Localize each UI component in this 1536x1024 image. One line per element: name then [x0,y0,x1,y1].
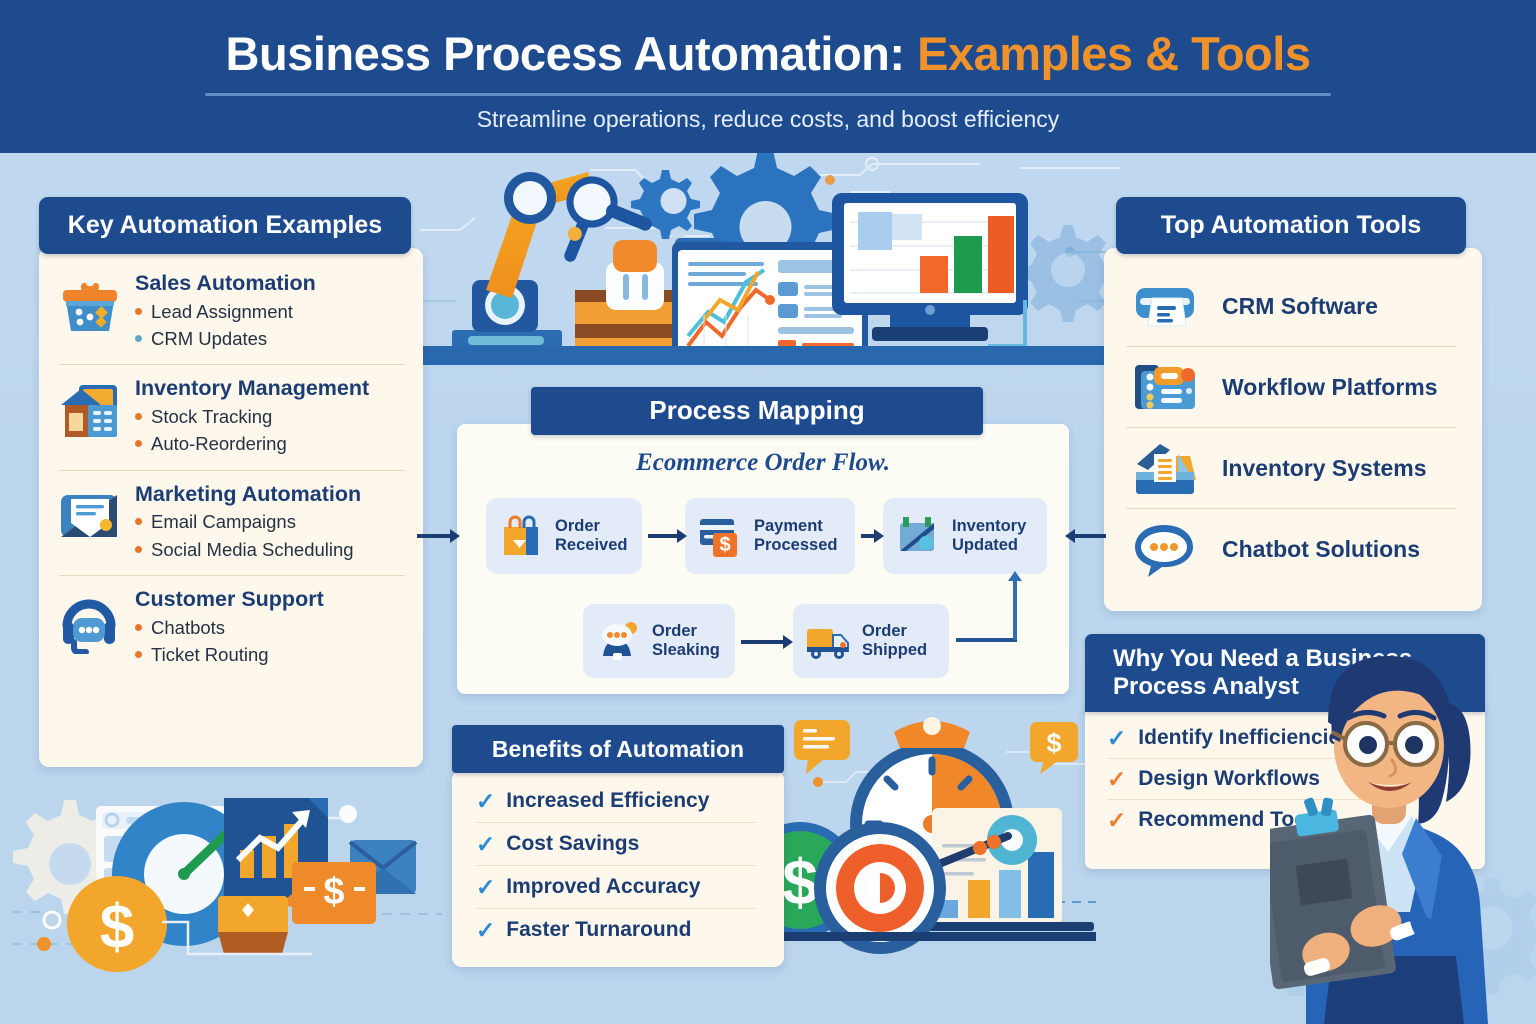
bullet-label: Stock Tracking [151,403,272,430]
check-icon: ✓ [476,919,495,942]
svg-text:$: $ [782,846,818,918]
envelope-icon [350,840,416,894]
page-title-main: Business Process Automation: [226,27,905,80]
bullet-label: CRM Updates [151,325,267,352]
list-item[interactable]: Marketing Automation Email Campaigns Soc… [55,483,407,563]
flow-step-order-shipped[interactable]: Order Shipped [793,604,949,678]
chat-bubble-icon [1130,517,1200,581]
bullet-dot [135,624,142,631]
svg-text:$: $ [100,893,134,962]
svg-text:$: $ [1046,728,1061,758]
benefit-label: Improved Accuracy [495,875,700,899]
flow-step-label: Order Sleaking [643,622,720,661]
bullet-dot [135,518,142,525]
flow-arrow-up [1013,580,1017,640]
chat-bubble-icon [794,720,850,774]
process-mapping-header: Process Mapping [531,387,983,435]
page-title: Business Process Automation: Examples & … [0,26,1536,81]
package-box-icon [575,240,695,350]
list-item[interactable]: Inventory Systems [1118,428,1468,508]
benefit-label: Cost Savings [495,832,639,856]
flow-arrow [741,640,784,644]
laptop-barchart-icon [880,808,1094,931]
list-item-text: Customer Support Chatbots Ticket Routing [123,588,407,668]
group-title: Inventory Management [135,377,407,400]
flow-step-order-received[interactable]: Order Received [486,498,642,574]
divider [59,575,405,576]
robot-chat-icon [593,616,643,666]
list-item[interactable]: CRM Software [1118,266,1468,346]
benefits-panel-title: Benefits of Automation [492,736,744,762]
flow-step-label: Order Shipped [853,622,927,661]
floor-line [744,932,1096,941]
group-title: Marketing Automation [135,483,407,506]
flow-return-path [956,638,1017,642]
workflow-board-icon [1130,355,1200,419]
header-divider [205,93,1331,96]
flow-step-label: Payment Processed [745,517,837,556]
envelope-icon [57,485,123,549]
analyst-label: Recommend Tools [1126,808,1324,832]
inventory-chart-icon [893,511,943,561]
check-icon: ✓ [476,833,495,856]
bottom-left-illustration: $ $ [12,772,452,1024]
tool-label: Chatbot Solutions [1200,536,1420,563]
analyst-panel-title: Why You Need a Business Process Analyst [1113,645,1412,700]
flow-step-order-tracking[interactable]: Order Sleaking [583,604,735,678]
bullet-dot [135,651,142,658]
flow-step-inventory-updated[interactable]: Inventory Updated [883,498,1047,574]
list-item-text: Inventory Management Stock Tracking Auto… [123,377,407,457]
check-icon: ✓ [1107,727,1126,750]
money-envelope-icon [218,896,288,954]
bullet-dot [135,335,142,342]
bullet-item: CRM Updates [135,325,407,352]
list-item[interactable]: Chatbot Solutions [1118,509,1468,589]
tools-panel-title: Top Automation Tools [1161,211,1422,240]
sales-basket-icon [57,274,123,338]
group-title: Sales Automation [135,272,407,295]
headset-bot-icon [57,590,123,654]
gear-icon [1434,878,1536,994]
benefit-label: Faster Turnaround [495,918,691,942]
infographic-canvas: Business Process Automation: Examples & … [0,0,1536,1024]
flow-step-label: Inventory Updated [943,517,1026,556]
list-item-text: Marketing Automation Email Campaigns Soc… [123,483,407,563]
tool-label: Inventory Systems [1200,455,1427,482]
bullet-item: Auto-Reordering [135,430,407,457]
robot-arm-icon [452,172,660,350]
svg-text:$: $ [719,534,730,556]
top-banner-illustration [420,150,1120,365]
analyst-panel-header: Why You Need a Business Process Analyst [1085,634,1485,712]
bullet-dot [135,308,142,315]
divider [59,470,405,471]
analyst-label: Identify Inefficiencies [1126,726,1352,750]
bullet-label: Ticket Routing [151,641,269,668]
tools-panel-header: Top Automation Tools [1116,197,1466,254]
bullet-label: Auto-Reordering [151,430,287,457]
list-item[interactable]: ✓ Recommend Tools [1085,800,1485,840]
tool-label: Workflow Platforms [1200,374,1438,401]
analyst-label: Design Workflows [1126,767,1320,791]
business-process-analyst-panel: ✓ Identify Inefficiencies ✓ Design Workf… [1085,706,1485,869]
coin-dollar-icon: $ [67,876,167,972]
flow-step-label: Order Received [546,517,627,556]
list-item[interactable]: ✓ Identify Inefficiencies [1085,718,1485,758]
left-panel-title: Key Automation Examples [68,211,382,240]
bullet-item: Lead Assignment [135,298,407,325]
list-item[interactable]: Sales Automation Lead Assignment CRM Upd… [55,272,407,352]
bullet-label: Email Campaigns [151,508,296,535]
list-item[interactable]: ✓ Improved Accuracy [452,866,784,908]
bullet-label: Social Media Scheduling [151,536,354,563]
benefits-panel-header: Benefits of Automation [452,725,784,773]
list-item[interactable]: ✓ Design Workflows [1085,759,1485,799]
monitor-barchart-icon [832,193,1028,341]
benefit-label: Increased Efficiency [495,789,709,813]
list-item[interactable]: Workflow Platforms [1118,347,1468,427]
group-title: Customer Support [135,588,407,611]
bullet-dot [135,546,142,553]
alarm-clock-icon [850,717,1014,906]
gear-icon [1019,225,1117,322]
page-header: Business Process Automation: Examples & … [0,0,1536,153]
check-icon: ✓ [1107,809,1126,832]
left-panel-header: Key Automation Examples [39,197,411,254]
list-item[interactable]: ✓ Increased Efficiency [452,780,784,822]
chat-bubble-dollar-icon: $ [1030,722,1078,774]
gear-icon [631,170,700,239]
process-mapping-panel: Ecommerce Order Flow. Order Received [457,424,1069,694]
top-automation-tools-panel: CRM Software [1104,248,1482,611]
divider [59,364,405,365]
bullet-dot [135,413,142,420]
page-title-accent: Examples & Tools [917,27,1310,80]
benefits-of-automation-panel: ✓ Increased Efficiency ✓ Cost Savings ✓ … [452,770,784,967]
list-item[interactable]: Inventory Management Stock Tracking Auto… [55,377,407,457]
shopping-bag-icon [496,511,546,561]
flow-arrow-out [1074,534,1106,538]
bullet-label: Chatbots [151,614,225,641]
bullet-item: Stock Tracking [135,403,407,430]
list-item-text: Sales Automation Lead Assignment CRM Upd… [123,272,407,352]
tool-label: CRM Software [1200,293,1378,320]
list-item[interactable]: ✓ Faster Turnaround [452,909,784,951]
inventory-box-icon [1130,436,1200,500]
growth-chart-icon [224,798,328,898]
check-icon: ✓ [1107,768,1126,791]
delivery-truck-icon [803,616,853,666]
pie-gauge-icon [112,802,256,946]
key-automation-examples-panel: Sales Automation Lead Assignment CRM Upd… [39,248,423,767]
check-icon: ✓ [476,790,495,813]
warehouse-icon [57,379,123,443]
process-mapping-subtitle: Ecommerce Order Flow. [457,449,1069,477]
credit-card-dollar-icon: $ [695,511,745,561]
list-item[interactable]: Customer Support Chatbots Ticket Routing [55,588,407,668]
page-subtitle: Streamline operations, reduce costs, and… [0,106,1536,133]
bullet-dot [135,440,142,447]
bottom-center-illustration: $ $ [756,712,1096,1024]
list-item[interactable]: ✓ Cost Savings [452,823,784,865]
dashboard-window-icon [672,238,868,362]
browser-window-icon [96,806,226,928]
bullet-item: Ticket Routing [135,641,407,668]
bullet-item: Email Campaigns [135,508,407,535]
process-mapping-title: Process Mapping [649,396,864,426]
gear-icon [694,150,837,293]
bullet-label: Lead Assignment [151,298,293,325]
flow-arrow-in [417,534,451,538]
bullet-item: Social Media Scheduling [135,536,407,563]
bullet-item: Chatbots [135,614,407,641]
svg-text:$: $ [323,871,344,913]
crm-card-icon [1130,274,1200,338]
flow-arrow [648,534,678,538]
flow-step-payment-processed[interactable]: $ Payment Processed [685,498,855,574]
flow-arrow [861,534,875,538]
money-card-icon: $ [280,862,376,924]
check-icon: ✓ [476,876,495,899]
gear-icon [13,800,127,914]
